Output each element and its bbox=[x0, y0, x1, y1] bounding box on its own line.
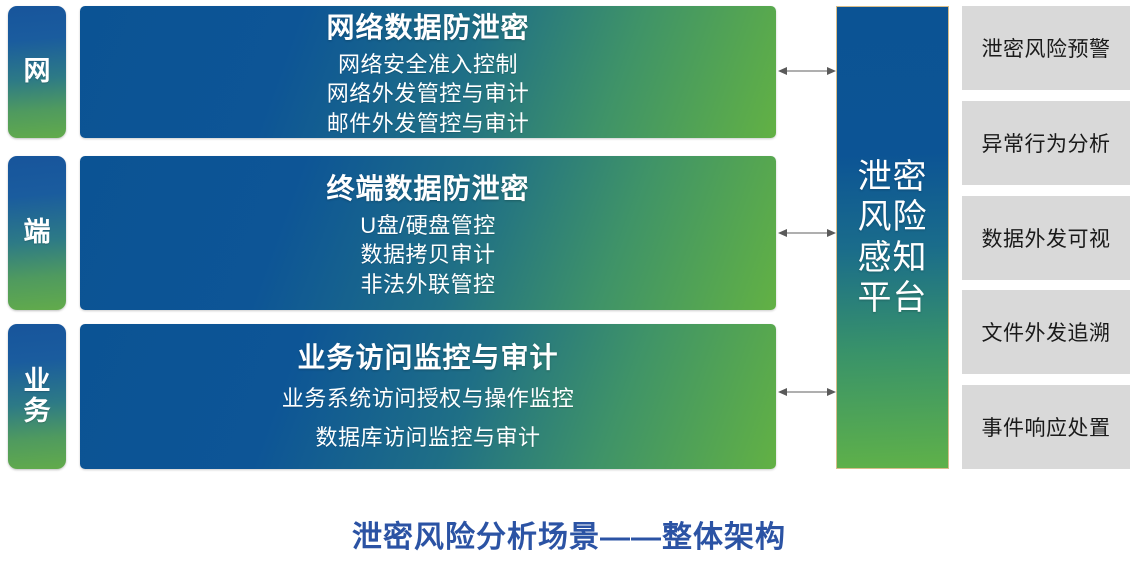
layer-tab-network[interactable]: 网 bbox=[8, 6, 66, 138]
capability-box-risk-alert[interactable]: 泄密风险预警 bbox=[962, 6, 1130, 90]
layer-panel-feature: 非法外联管控 bbox=[360, 270, 495, 299]
layer-panel-title: 终端数据防泄密 bbox=[326, 167, 529, 207]
layer-panel-network[interactable]: 网络数据防泄密 网络安全准入控制 网络外发管控与审计 邮件外发管控与审计 bbox=[80, 6, 776, 138]
layer-panel-feature: 网络外发管控与审计 bbox=[327, 79, 530, 108]
layer-panel-feature: 网络安全准入控制 bbox=[338, 50, 518, 79]
layer-tab-label: 业务 bbox=[22, 367, 52, 425]
capability-label: 异常行为分析 bbox=[982, 128, 1111, 158]
capability-box-file-tracing[interactable]: 文件外发追溯 bbox=[962, 290, 1130, 374]
connector-arrow-business bbox=[778, 385, 836, 399]
layer-tab-label: 网 bbox=[22, 57, 52, 86]
layer-panel-feature: U盘/硬盘管控 bbox=[360, 211, 496, 240]
capability-box-incident-resp[interactable]: 事件响应处置 bbox=[962, 385, 1130, 469]
connector-arrow-endpoint bbox=[778, 226, 836, 240]
layer-panel-title: 网络数据防泄密 bbox=[326, 6, 529, 46]
diagram-caption: 泄密风险分析场景——整体架构 bbox=[0, 512, 1138, 556]
capability-label: 文件外发追溯 bbox=[982, 317, 1111, 347]
layer-tab-endpoint[interactable]: 端 bbox=[8, 156, 66, 310]
capability-label: 泄密风险预警 bbox=[982, 33, 1111, 63]
layer-panel-business[interactable]: 业务访问监控与审计 业务系统访问授权与操作监控 数据库访问监控与审计 bbox=[80, 324, 776, 469]
layer-tab-label: 端 bbox=[22, 218, 52, 247]
layer-panel-endpoint[interactable]: 终端数据防泄密 U盘/硬盘管控 数据拷贝审计 非法外联管控 bbox=[80, 156, 776, 310]
capability-box-data-egress[interactable]: 数据外发可视 bbox=[962, 196, 1130, 280]
capability-label: 事件响应处置 bbox=[982, 412, 1111, 442]
diagram-canvas: 网 端 业务 网络数据防泄密 网络安全准入控制 网络外发管控与审计 邮件外发管控… bbox=[0, 0, 1138, 572]
connector-arrow-network bbox=[778, 64, 836, 78]
risk-awareness-platform[interactable]: 泄密风险感知平台 bbox=[836, 6, 949, 469]
layer-panel-feature: 数据拷贝审计 bbox=[360, 240, 495, 269]
layer-panel-title: 业务访问监控与审计 bbox=[297, 336, 558, 376]
platform-label: 泄密风险感知平台 bbox=[850, 157, 936, 317]
layer-tab-business[interactable]: 业务 bbox=[8, 324, 66, 469]
capability-box-anomaly[interactable]: 异常行为分析 bbox=[962, 101, 1130, 185]
layer-panel-feature: 数据库访问监控与审计 bbox=[315, 419, 540, 458]
layer-panel-feature: 邮件外发管控与审计 bbox=[327, 109, 530, 138]
capability-label: 数据外发可视 bbox=[982, 223, 1111, 253]
layer-panel-feature: 业务系统访问授权与操作监控 bbox=[282, 380, 575, 419]
